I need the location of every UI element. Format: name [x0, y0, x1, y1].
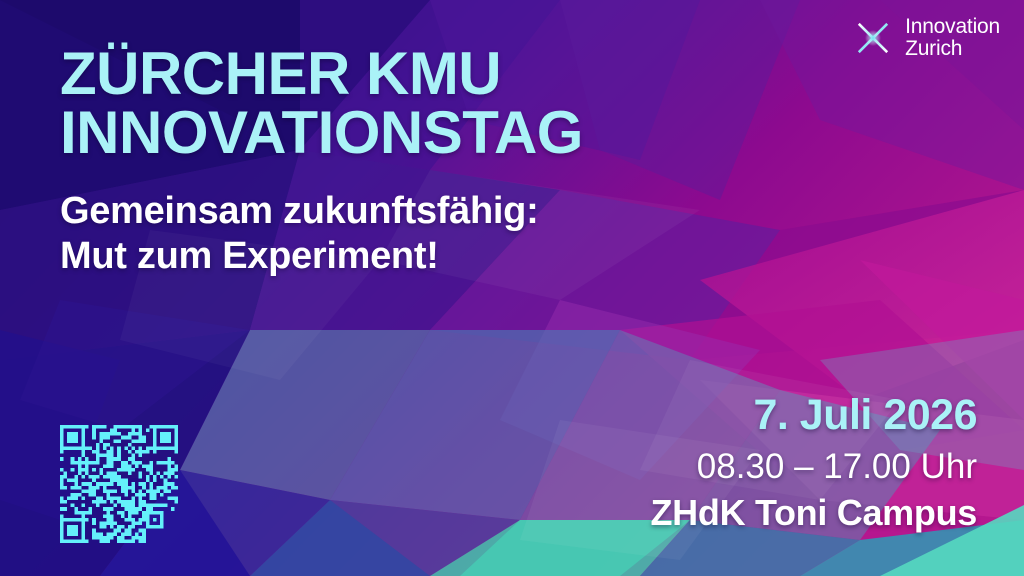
qr-code-image	[60, 425, 178, 543]
headline-line-2: INNOVATIONSTAG	[60, 103, 780, 162]
event-details-block: 7. Juli 2026 08.30 – 17.00 Uhr ZHdK Toni…	[650, 392, 977, 534]
logo-line-2: Zurich	[905, 38, 1000, 60]
headline-block: ZÜRCHER KMU INNOVATIONSTAG Gemeinsam zuk…	[60, 44, 780, 278]
subtitle-line-2: Mut zum Experiment!	[60, 234, 780, 279]
logo-wordmark: Innovation Zurich	[905, 16, 1000, 61]
event-date: 7. Juli 2026	[650, 392, 977, 439]
qr-code[interactable]	[60, 425, 178, 543]
headline-line-1: ZÜRCHER KMU	[60, 44, 780, 103]
logo-line-1: Innovation	[905, 16, 1000, 38]
subtitle-line-1: Gemeinsam zukunftsfähig:	[60, 189, 780, 234]
event-time: 08.30 – 17.00 Uhr	[650, 445, 977, 489]
event-poster: Innovation Zurich ZÜRCHER KMU INNOVATION…	[0, 0, 1024, 576]
event-venue: ZHdK Toni Campus	[650, 491, 977, 534]
innovation-zurich-logo[interactable]: Innovation Zurich	[851, 16, 1000, 61]
eight-point-star-icon	[851, 16, 895, 60]
